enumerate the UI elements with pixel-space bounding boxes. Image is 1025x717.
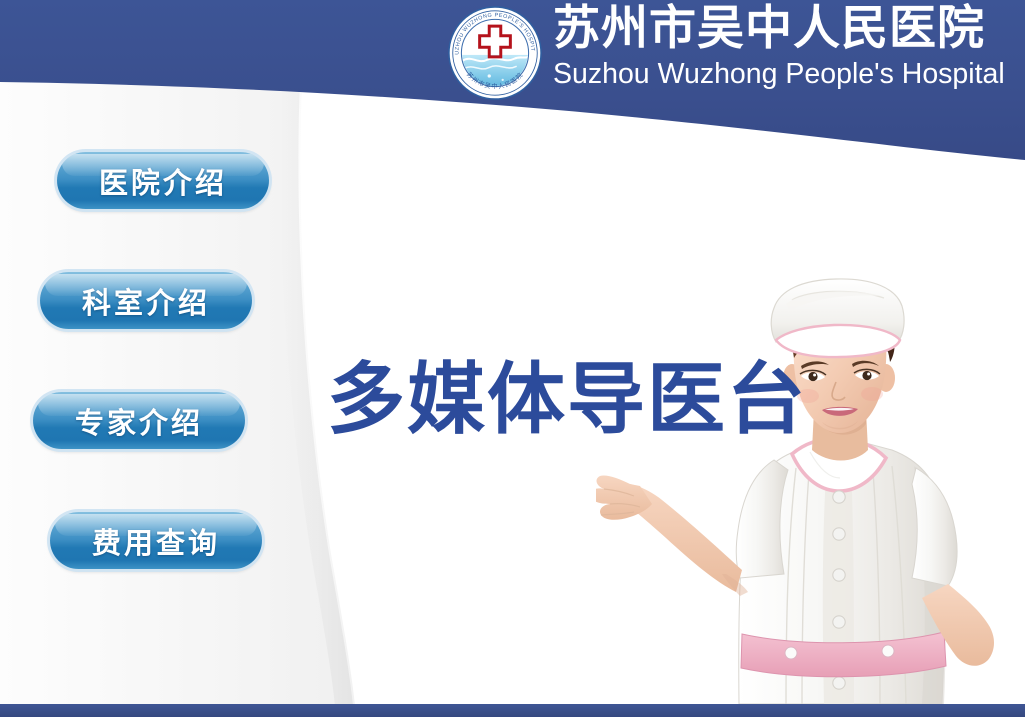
brand-text: 苏州市吴中人民医院 Suzhou Wuzhong People's Hospit… <box>553 2 1005 90</box>
nurse-cap-icon <box>771 279 904 357</box>
kiosk-screen: SUZHOU WUZHONG PEOPLE'S HOSPITAL 苏州市吴中人民… <box>0 0 1025 717</box>
sidebar-item-hospital-intro[interactable]: 医院介绍 <box>57 152 269 209</box>
nurse-left-arm <box>596 460 788 596</box>
sidebar-item-label: 医院介绍 <box>99 160 227 202</box>
header-brand: SUZHOU WUZHONG PEOPLE'S HOSPITAL 苏州市吴中人民… <box>447 2 1005 101</box>
hospital-name-cn: 苏州市吴中人民医院 <box>553 2 1005 56</box>
nurse-photo <box>596 278 1025 704</box>
sidebar-item-label: 科室介绍 <box>82 280 210 322</box>
sidebar-item-expert-intro[interactable]: 专家介绍 <box>33 392 245 449</box>
sidebar-item-label: 费用查询 <box>92 520 220 562</box>
page-title: 多媒体导医台 <box>327 358 807 442</box>
sidebar-item-department-intro[interactable]: 科室介绍 <box>40 272 252 329</box>
sidebar-item-label: 专家介绍 <box>75 400 203 442</box>
sidebar-nav: 医院介绍 科室介绍 专家介绍 费用查询 <box>0 0 300 717</box>
hospital-name-en: Suzhou Wuzhong People's Hospital <box>553 58 1005 90</box>
sidebar-item-fee-inquiry[interactable]: 费用查询 <box>50 512 262 569</box>
hospital-emblem-icon: SUZHOU WUZHONG PEOPLE'S HOSPITAL 苏州市吴中人民… <box>447 5 543 101</box>
